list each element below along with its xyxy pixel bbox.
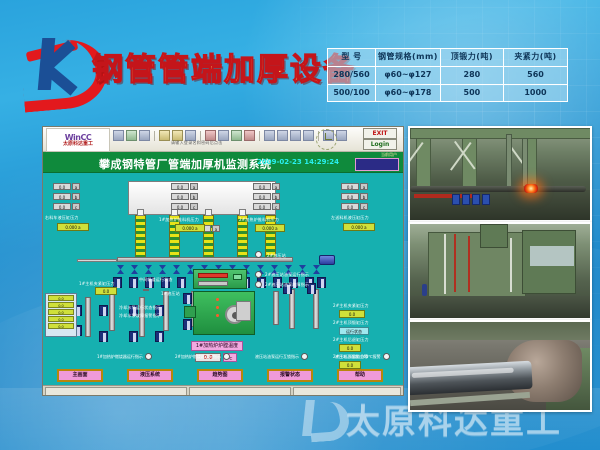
spec-header-model: 型 号 xyxy=(328,49,376,67)
valve-spool-gray xyxy=(198,281,228,286)
sensor-icon xyxy=(317,277,326,288)
valve-icon xyxy=(159,265,166,274)
limit-switch-icon xyxy=(99,331,108,342)
spec-cell: 1000 xyxy=(503,84,567,102)
mid-right-readout-row: 0.0 a xyxy=(253,183,280,190)
mid-label-conveyor-status: 中间辊道运行状态 xyxy=(139,277,173,283)
page-title: 钢管管端加厚设备 xyxy=(92,44,356,89)
footer-lamp-item: 液压站油温超过45℃报警 xyxy=(335,353,390,360)
photo-content xyxy=(410,224,590,318)
readout-value: 0.0 xyxy=(171,183,189,190)
readout-value: 0.0 xyxy=(253,183,271,190)
status-led xyxy=(216,306,219,309)
status-cell xyxy=(293,387,401,396)
spec-table: 型 号 钢管规格(mm) 顶锻力(吨) 夹紧力(吨) 280/560 φ60~φ… xyxy=(327,48,568,102)
valve-spool-red xyxy=(198,273,228,278)
red-hydraulic-line xyxy=(454,234,456,292)
user-icon[interactable] xyxy=(244,130,255,141)
mid-right-group-tag: 0.000 a xyxy=(255,224,285,232)
align-icon[interactable] xyxy=(290,130,301,141)
readout-value: 0.0 xyxy=(53,183,71,190)
blue-actuator xyxy=(452,194,460,205)
right-stack-tag-1: 0.0 xyxy=(339,310,365,318)
mid-label-cooling-pump-run: 冷却水泵运行状态指示 xyxy=(119,305,161,311)
hmi-mimic-diagram: 0.0 a 0.0 b 0.0 c 右料车液压缸压力 0.000 a 0.0 a… xyxy=(43,173,403,396)
right-group-tag: 0.000 a xyxy=(343,223,375,231)
login-button[interactable]: Login xyxy=(363,139,397,150)
mid-left-group-label: 1#加热炉推料机压力 xyxy=(159,217,199,223)
right-stack-label-2: 2#主机顶锻缸压力 xyxy=(333,320,369,326)
readout-unit: a xyxy=(360,183,368,190)
toolbar-divider xyxy=(200,131,201,141)
right-readout-row: 0.0 b xyxy=(341,193,368,200)
limit-switch-icon xyxy=(183,319,192,330)
mid-left-group-tag: 0.000 a xyxy=(175,224,205,232)
limit-switch-icon xyxy=(155,331,164,342)
readout-unit: a xyxy=(212,225,220,232)
right-stack-label-3: 2#主机后退缸压力 xyxy=(333,337,369,343)
footer-lamp-row: 1#加热炉燃烧器运行指示 2#加热炉燃烧器运行指示 液压站油泵运行互锁指示 液压… xyxy=(97,353,397,362)
readout-unit: a xyxy=(190,183,198,190)
right-stack-tag-3: 0.0 xyxy=(339,344,361,352)
footer-lamp-label: 液压站油温超过45℃报警 xyxy=(335,354,381,360)
left-side-panel: 0.0 0.0 0.0 0.0 0.0 xyxy=(45,293,77,337)
photo-rolling-mill-line xyxy=(408,126,592,222)
panel-row: 0.0 xyxy=(48,302,74,308)
valve-knob xyxy=(233,274,242,280)
limit-switch-icon xyxy=(183,293,192,304)
readout-unit: b xyxy=(72,193,80,200)
machine-plate xyxy=(236,301,251,321)
wincc-logo-icon: WinCC 太原科达重工 xyxy=(46,128,110,152)
hmi-system-title: 攀成钢特管厂管端加厚机监测系统 xyxy=(99,156,272,172)
spec-cell: 500/100 xyxy=(328,84,376,102)
spec-cell: φ60~φ178 xyxy=(376,84,441,102)
photo-thickened-pipe-end-closeup xyxy=(408,320,592,412)
directional-valve-block xyxy=(193,269,247,289)
left-group-tag: 0.000 a xyxy=(57,223,89,231)
mid-right-readout-row: 0.0 b xyxy=(253,193,280,200)
readout-unit: c xyxy=(190,203,198,210)
blue-actuator xyxy=(462,194,470,205)
readout-value: 0.0 xyxy=(341,183,359,190)
readout-value: 0.0 xyxy=(253,193,271,200)
panel-row: 0.0 xyxy=(48,295,74,301)
white-pipe xyxy=(510,238,512,292)
indicator-lamp xyxy=(255,281,262,288)
valve-icon xyxy=(131,265,138,274)
blue-actuator xyxy=(472,194,480,205)
help-button[interactable]: 帮助 xyxy=(337,369,383,382)
right-label-pump-run: 2#液压站油泵运行指示 xyxy=(265,272,309,278)
rod-spacer xyxy=(143,289,149,291)
hydraulic-cylinder xyxy=(109,291,115,331)
indicator-lamp xyxy=(145,353,152,360)
readout-unit: c xyxy=(72,203,80,210)
photo-hydraulic-press-station xyxy=(408,222,592,320)
exit-button[interactable]: EXIT xyxy=(363,128,397,139)
readout-unit: b xyxy=(190,193,198,200)
main-screen-button[interactable]: 主画面 xyxy=(57,369,103,382)
spec-cell: 560 xyxy=(503,66,567,84)
table-row: 280/560 φ60~φ127 280 560 xyxy=(328,66,568,84)
toolbar-divider xyxy=(259,131,260,141)
right-stack-tag-4: 0.0 xyxy=(339,361,361,369)
panel-row: 0.0 xyxy=(48,316,74,322)
hydraulic-cylinder xyxy=(273,291,279,325)
white-pipe xyxy=(444,234,446,294)
company-logo-icon xyxy=(24,34,102,96)
readout-value: 0.0 xyxy=(171,203,189,210)
right-label-pump-fault: 2#液压站油泵故障指示 xyxy=(265,282,309,288)
furnace-column xyxy=(203,215,214,261)
save-icon[interactable] xyxy=(113,130,124,141)
panel-row: 0.0 xyxy=(48,309,74,315)
furnace-burner-cap xyxy=(239,209,246,216)
sensor-icon xyxy=(177,277,186,288)
clock-icon xyxy=(316,129,337,150)
toolbar-icon-group[interactable] xyxy=(113,130,347,141)
hmi-toolbar: WinCC 太原科达重工 xyxy=(43,127,403,152)
slide-canvas: 太原科达重工 钢管管端加厚设备 型 号 钢管规格(mm) 顶锻力(吨) 夹紧力(… xyxy=(0,0,600,450)
photo-content xyxy=(410,128,590,220)
table-row: 500/100 φ60~φ178 500 1000 xyxy=(328,84,568,102)
layer-icon[interactable] xyxy=(277,130,288,141)
spec-header-upset-force: 顶锻力(吨) xyxy=(440,49,503,67)
status-led xyxy=(216,298,219,301)
left-readout-row: 0.0 b xyxy=(53,193,80,200)
right-stack-tag-2: 运行状态 xyxy=(339,327,369,335)
readout-value: 0.0 xyxy=(341,193,359,200)
hmi-title-bar: 攀成钢特管厂管端加厚机监测系统 2009-02-23 14:29:24 当前用户 xyxy=(43,152,403,173)
alarm-status-button[interactable]: 报警状态 xyxy=(267,369,313,382)
limit-switch-icon xyxy=(129,331,138,342)
report-icon[interactable] xyxy=(336,130,347,141)
valve-icon xyxy=(173,265,180,274)
worker-figure xyxy=(422,284,427,296)
mid-label-cooling-pump-fault: 冷却水泵故障报警指示 xyxy=(119,313,161,319)
copy-icon[interactable] xyxy=(139,130,150,141)
hmi-timestamp: 2009-02-23 14:29:24 xyxy=(257,158,339,166)
readout-unit: a xyxy=(72,183,80,190)
readout-unit: c xyxy=(272,203,280,210)
left-stack-tag-1: 0.0 xyxy=(95,287,117,295)
spec-header-pipe-size: 钢管规格(mm) xyxy=(376,49,441,67)
readout-value: 0.0 xyxy=(171,193,189,200)
status-cell xyxy=(189,387,291,396)
window-light xyxy=(530,246,574,266)
readout-value: 0.0 xyxy=(53,203,71,210)
trend-chart-button[interactable]: 趋势图 xyxy=(197,369,243,382)
undo-icon[interactable] xyxy=(159,130,170,141)
right-group-label: 左送料机液压缸压力 xyxy=(331,215,369,221)
indicator-lamp xyxy=(383,353,390,360)
grid-icon[interactable] xyxy=(264,130,275,141)
mid-right-readout-row: 0.0 c xyxy=(253,203,280,210)
current-user-field[interactable] xyxy=(355,158,399,171)
hmi-status-bar xyxy=(43,385,403,395)
vertical-pipe xyxy=(506,134,512,192)
mid-left-readout-row: 0.0 b xyxy=(171,193,198,200)
wincc-company-text: 太原科达重工 xyxy=(63,142,93,147)
furnace-burner-cap xyxy=(137,209,144,216)
footer-lamp-label: 液压站油泵运行互锁指示 xyxy=(255,354,299,360)
press-ram xyxy=(480,224,508,248)
readout-unit: a xyxy=(272,183,280,190)
readout-unit: c xyxy=(360,203,368,210)
right-label-station-2: 2#液压站 xyxy=(267,253,286,259)
spec-cell: 280 xyxy=(440,66,503,84)
background-machine-top xyxy=(410,322,590,340)
furnace-burner-cap xyxy=(205,209,212,216)
footer-lamp-item: 2#加热炉燃烧器运行指示 xyxy=(175,353,230,360)
spec-table-header-row: 型 号 钢管规格(mm) 顶锻力(吨) 夹紧力(吨) xyxy=(328,49,568,67)
limit-switch-icon xyxy=(99,305,108,316)
readout-unit: b xyxy=(360,193,368,200)
furnace-column xyxy=(135,215,146,261)
red-hydraulic-line xyxy=(468,236,470,292)
footer-lamp-label: 1#加热炉燃烧器运行指示 xyxy=(97,354,143,360)
glowing-hot-pipe-end xyxy=(524,184,538,193)
photo-content xyxy=(410,322,590,410)
plant-floor xyxy=(410,296,590,318)
left-group-label: 右料车液压缸压力 xyxy=(45,215,79,221)
blue-actuator xyxy=(482,194,490,205)
steel-pipe xyxy=(410,186,586,192)
indicator-lamp xyxy=(223,353,230,360)
hydraulic-cylinder xyxy=(85,297,91,337)
readout-unit: b xyxy=(272,193,280,200)
toolbar-note: 请输入登录名和密码后点击 xyxy=(171,140,223,146)
roof-beam xyxy=(410,128,592,139)
mid-left-readout-row: 0.0 c xyxy=(171,203,198,210)
readout-value: 0.0 xyxy=(341,203,359,210)
spec-cell: 500 xyxy=(440,84,503,102)
valve-icon xyxy=(313,265,320,274)
status-led xyxy=(216,314,219,317)
mid-right-group-label: 2#加热炉推料机压力 xyxy=(239,217,279,223)
indicator-lamp xyxy=(255,271,262,278)
mid-left-readout-row: 0.0 a xyxy=(171,183,198,190)
footer-lamp-item: 1#加热炉燃烧器运行指示 xyxy=(97,353,152,360)
hydraulic-system-button[interactable]: 液压系统 xyxy=(127,369,173,382)
indicator-lamp xyxy=(301,353,308,360)
spec-cell: 280/560 xyxy=(328,66,376,84)
valve-icon xyxy=(117,265,124,274)
valve-icon xyxy=(145,265,152,274)
readout-value: 0.0 xyxy=(253,203,271,210)
readout-value: 0.0 xyxy=(53,193,71,200)
feed-pipe xyxy=(77,259,117,262)
hydraulic-cylinder xyxy=(313,289,319,329)
footer-lamp-label: 2#加热炉燃烧器运行指示 xyxy=(175,354,221,360)
indicator-lamp xyxy=(255,251,262,258)
machine-inlet-stub xyxy=(184,306,196,318)
hydraulic-cylinder xyxy=(289,289,295,329)
left-readout-row: 0.0 c xyxy=(53,203,80,210)
print-icon[interactable] xyxy=(126,130,137,141)
upsetting-machine-unit xyxy=(193,291,255,335)
drive-motor-icon xyxy=(319,255,335,265)
spec-header-clamp-force: 夹紧力(吨) xyxy=(503,49,567,67)
vertical-pipe xyxy=(522,138,528,188)
left-readout-row: 0.0 a xyxy=(53,183,80,190)
panel-row: 0.0 xyxy=(48,323,74,329)
right-readout-row: 0.0 a xyxy=(341,183,368,190)
sensor-icon xyxy=(129,277,138,288)
right-stack-label-1: 2#主机夹紧缸压力 xyxy=(333,303,369,309)
status-cell xyxy=(45,387,187,396)
footer-lamp-item: 液压站油泵运行互锁指示 xyxy=(255,353,308,360)
right-readout-row: 0.0 c xyxy=(341,203,368,210)
mid-label-hydraulic-station-1: 1#液压站 xyxy=(161,291,180,297)
spec-cell: φ60~φ127 xyxy=(376,66,441,84)
temperature-label: 1#加热炉炉膛温度 xyxy=(191,341,243,351)
toolbar-divider xyxy=(154,131,155,141)
group-icon[interactable] xyxy=(303,130,314,141)
run-icon[interactable] xyxy=(231,130,242,141)
hmi-screenshot: WinCC 太原科达重工 xyxy=(42,126,404,396)
